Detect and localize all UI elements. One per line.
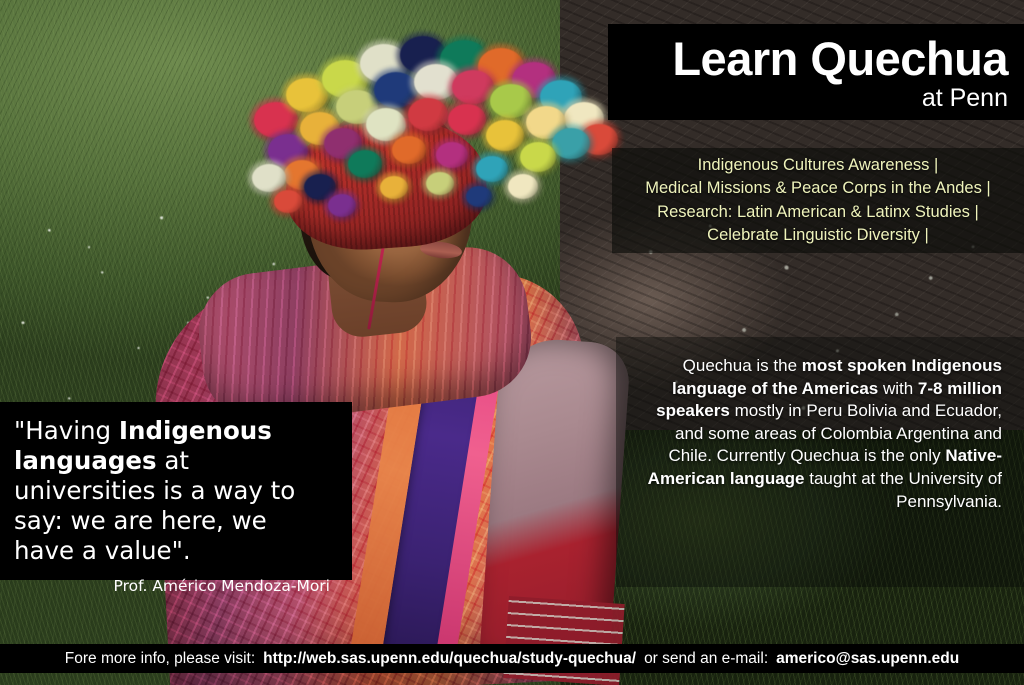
pom-pom	[274, 190, 302, 213]
tagline-line-4: Celebrate Linguistic Diversity |	[645, 224, 990, 247]
pom-pom	[476, 156, 508, 182]
pom-pom	[380, 176, 408, 199]
footer-url-link[interactable]: http://web.sas.upenn.edu/quechua/study-q…	[263, 650, 636, 667]
pom-pom	[426, 172, 454, 195]
footer-text: Fore more info, please visit:http://web.…	[65, 650, 959, 668]
title-box: Learn Quechua at Penn	[608, 24, 1024, 120]
tagline-box: Indigenous Cultures Awareness |Medical M…	[612, 148, 1024, 253]
tagline-line-3: Research: Latin American & Latinx Studie…	[645, 201, 990, 224]
poster: Learn Quechua at Penn Indigenous Culture…	[0, 0, 1024, 685]
quote-box: "Having Indigenous languages at universi…	[0, 402, 352, 580]
quote-segment-1: "Having	[14, 416, 119, 445]
pom-pom	[408, 98, 448, 131]
body-segment-1: Quechua is the	[683, 356, 802, 375]
pom-pom	[348, 150, 382, 178]
quote-paragraph: "Having Indigenous languages at universi…	[14, 416, 334, 565]
pom-pom	[392, 136, 426, 164]
pom-pom	[466, 186, 492, 207]
body-segment-3: with	[878, 379, 918, 398]
body-segment-7: taught at the University of Pennsylvania…	[805, 469, 1003, 511]
page-title: Learn Quechua	[608, 30, 1008, 83]
footer-bar: Fore more info, please visit:http://web.…	[0, 644, 1024, 673]
tagline-line-1: Indigenous Cultures Awareness |	[645, 154, 990, 177]
pom-pom	[508, 174, 538, 199]
footer-email-link[interactable]: americo@sas.upenn.edu	[776, 650, 959, 667]
pom-pom	[448, 104, 486, 135]
pom-pom	[520, 142, 556, 172]
pom-pom	[328, 194, 356, 217]
body-text-box: Quechua is the most spoken Indigenous la…	[616, 337, 1024, 587]
quote-attribution: Prof. Américo Mendoza-Mori	[14, 577, 330, 595]
pom-pom	[436, 142, 468, 168]
pom-pom-ring	[240, 24, 540, 214]
footer-middle: or send an e-mail:	[644, 650, 768, 667]
footer-lead: Fore more info, please visit:	[65, 650, 255, 667]
body-paragraph: Quechua is the most spoken Indigenous la…	[630, 355, 1002, 513]
tagline-list: Indigenous Cultures Awareness |Medical M…	[645, 154, 990, 248]
tagline-line-2: Medical Missions & Peace Corps in the An…	[645, 177, 990, 200]
page-subtitle: at Penn	[608, 85, 1008, 113]
